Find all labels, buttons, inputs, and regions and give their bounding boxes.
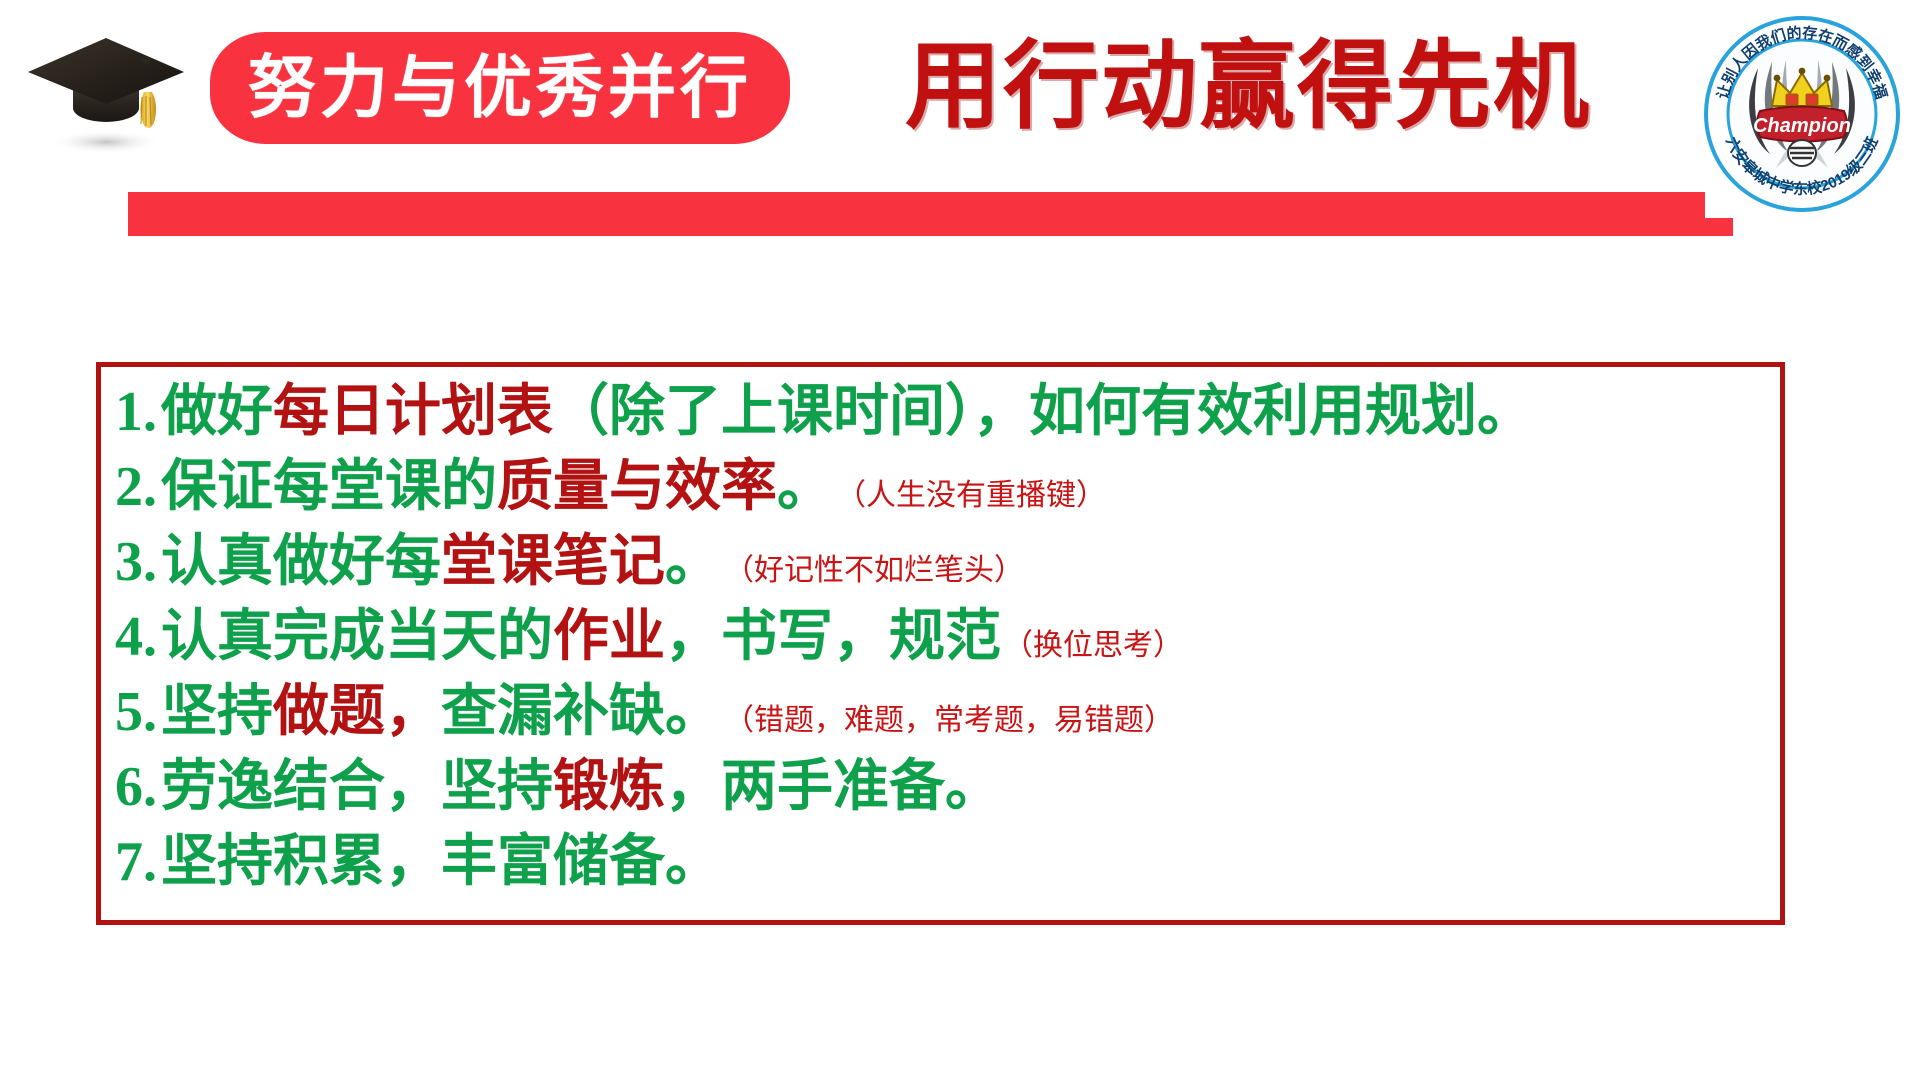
list-item-segment: 。 bbox=[777, 456, 833, 518]
list-item-note: （人生没有重播键） bbox=[851, 479, 1106, 512]
list-item-number: 6. bbox=[115, 756, 157, 818]
logo-center-text: Champion bbox=[1753, 115, 1851, 137]
slogan-badge-text: 努力与优秀并行 bbox=[248, 54, 752, 122]
list-item: 1.做好每日计划表（除了上课时间），如何有效利用规划。 bbox=[115, 375, 1772, 450]
list-item-segment: 做题， bbox=[273, 681, 441, 743]
list-item-segment: 每日计划表 bbox=[273, 381, 553, 443]
list-item-number: 3. bbox=[115, 531, 157, 593]
list-item-note: （换位思考） bbox=[1003, 629, 1183, 662]
list-item-segment: （除了上课时间），如何有效利用规划。 bbox=[553, 381, 1533, 443]
list-item-number: 4. bbox=[115, 606, 157, 668]
list-item-number: 1. bbox=[115, 381, 157, 443]
red-divider-bar bbox=[128, 192, 1738, 236]
list-item-segment: 锻炼 bbox=[553, 756, 665, 818]
graduation-cap-icon bbox=[26, 22, 196, 172]
page-title: 用行动赢得先机 bbox=[905, 22, 1645, 152]
school-seal-logo: Champion 让别人因我们的存在而感到幸福 六安皋城中学东校2019级三班 bbox=[1698, 10, 1906, 218]
list-item-number: 5. bbox=[115, 681, 157, 743]
requirements-list: 1.做好每日计划表（除了上课时间），如何有效利用规划。2.保证每堂课的质量与效率… bbox=[115, 375, 1772, 900]
list-item-segment: 做好 bbox=[161, 381, 273, 443]
list-item-segment: 保证每堂课的 bbox=[161, 456, 497, 518]
list-item-segment: ，两手准备。 bbox=[665, 756, 1001, 818]
list-item-segment: 认真完成当天的 bbox=[161, 606, 553, 668]
list-item-segment: 劳逸结合，坚持 bbox=[161, 756, 553, 818]
list-item: 6.劳逸结合，坚持锻炼，两手准备。 bbox=[115, 750, 1772, 825]
list-item-segment: ，书写，规范 bbox=[665, 606, 1001, 668]
page-header: 努力与优秀并行 用行动赢得先机 bbox=[0, 0, 1920, 180]
list-item-note: （好记性不如烂笔头） bbox=[739, 554, 1024, 587]
list-item: 4.认真完成当天的作业，书写，规范（换位思考） bbox=[115, 600, 1772, 675]
list-item-segment: 。 bbox=[665, 531, 721, 593]
list-item-segment: 堂课笔记 bbox=[441, 531, 665, 593]
list-item-segment: 坚持积累，丰富储备。 bbox=[161, 831, 721, 893]
list-item-segment: 质量与效率 bbox=[497, 456, 777, 518]
slogan-badge: 努力与优秀并行 bbox=[210, 32, 790, 144]
list-item: 3.认真做好每堂课笔记。（好记性不如烂笔头） bbox=[115, 525, 1772, 600]
list-item-number: 2. bbox=[115, 456, 157, 518]
divider-bar-lower bbox=[128, 218, 1733, 236]
list-item-note: （错题，难题，常考题，易错题） bbox=[739, 704, 1174, 737]
list-item-segment: 坚持 bbox=[161, 681, 273, 743]
list-item-segment: 认真做好每 bbox=[161, 531, 441, 593]
list-item: 2.保证每堂课的质量与效率。（人生没有重播键） bbox=[115, 450, 1772, 525]
divider-bar-upper bbox=[128, 192, 1705, 218]
list-item-segment: 作业 bbox=[553, 606, 665, 668]
content-box: 1.做好每日计划表（除了上课时间），如何有效利用规划。2.保证每堂课的质量与效率… bbox=[96, 362, 1785, 925]
list-item: 7.坚持积累，丰富储备。 bbox=[115, 825, 1772, 900]
list-item-number: 7. bbox=[115, 831, 157, 893]
list-item-segment: 查漏补缺。 bbox=[441, 681, 721, 743]
list-item: 5.坚持做题，查漏补缺。（错题，难题，常考题，易错题） bbox=[115, 675, 1772, 750]
